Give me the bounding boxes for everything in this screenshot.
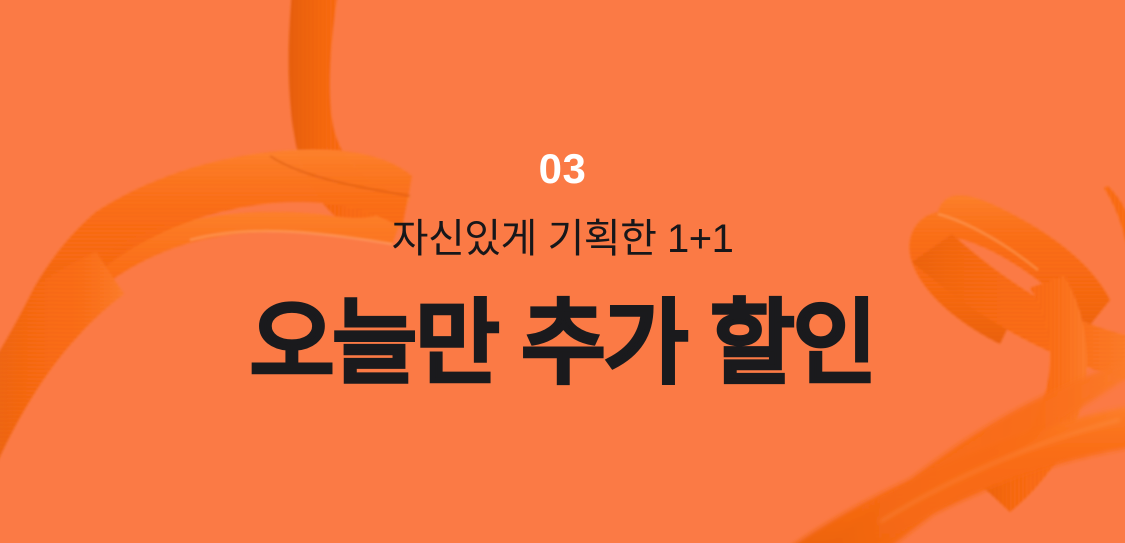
promo-banner: 03 자신있게 기획한 1+1 오늘만 추가 할인 [0, 0, 1125, 543]
banner-subtitle: 자신있게 기획한 1+1 [392, 216, 734, 262]
banner-copy: 03 자신있게 기획한 1+1 오늘만 추가 할인 [0, 0, 1125, 543]
banner-headline: 오늘만 추가 할인 [250, 296, 876, 393]
slide-number: 03 [539, 148, 587, 190]
